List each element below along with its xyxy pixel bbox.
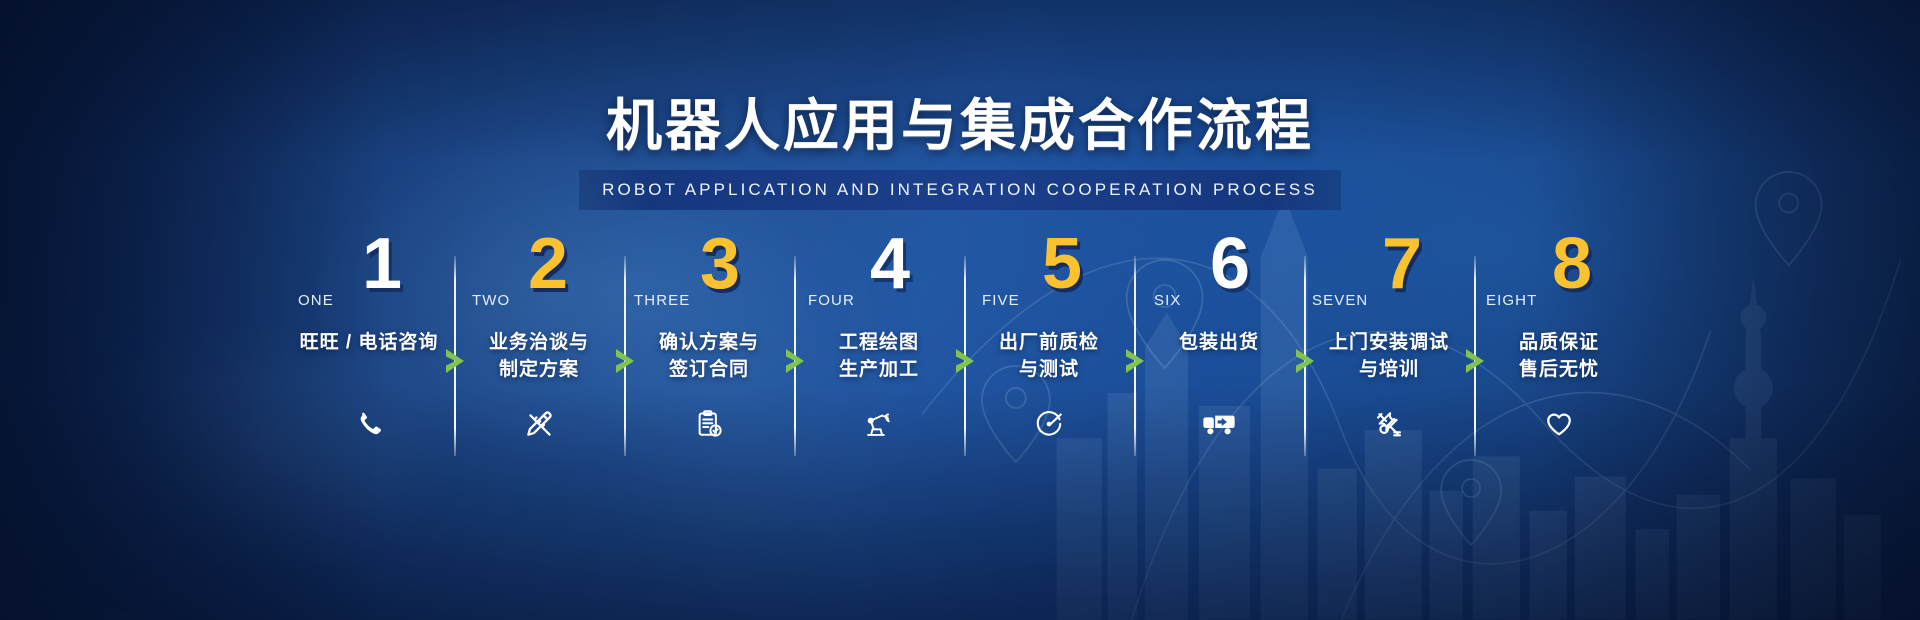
step-number: 7 bbox=[1382, 228, 1421, 300]
process-step-8[interactable]: 8EIGHT品质保证售后无忧 bbox=[1474, 252, 1644, 464]
step-ordinal: TWO bbox=[472, 292, 510, 309]
gauge-icon bbox=[964, 404, 1134, 444]
step-label: 品质保证售后无忧 bbox=[1474, 330, 1644, 384]
ruler-pen-icon bbox=[454, 404, 624, 444]
step-number: 5 bbox=[1042, 228, 1081, 300]
step-label-line: 品质保证 bbox=[1474, 330, 1644, 357]
step-label: 业务治谈与制定方案 bbox=[454, 330, 624, 384]
step-ordinal: FIVE bbox=[982, 292, 1020, 309]
step-label-line: 工程绘图 bbox=[794, 330, 964, 357]
step-number: 3 bbox=[700, 228, 739, 300]
phone-icon bbox=[284, 404, 454, 444]
step-label: 上门安装调试与培训 bbox=[1304, 330, 1474, 384]
process-step-list: 1ONE旺旺 / 电话咨询2TWO业务治谈与制定方案3THREE确认方案与签订合… bbox=[284, 252, 1644, 464]
step-ordinal: EIGHT bbox=[1486, 292, 1537, 309]
process-step-1[interactable]: 1ONE旺旺 / 电话咨询 bbox=[284, 252, 454, 464]
process-banner: 机器人应用与集成合作流程 ROBOT APPLICATION AND INTEG… bbox=[0, 0, 1920, 620]
step-ordinal: SIX bbox=[1154, 292, 1181, 309]
wrench-screwdriver-icon bbox=[1304, 404, 1474, 444]
step-ordinal: ONE bbox=[298, 292, 334, 309]
step-label: 确认方案与签订合同 bbox=[624, 330, 794, 384]
step-ordinal: FOUR bbox=[808, 292, 855, 309]
step-label-line: 售后无忧 bbox=[1474, 357, 1644, 384]
banner-header: 机器人应用与集成合作流程 ROBOT APPLICATION AND INTEG… bbox=[0, 96, 1920, 210]
step-label: 出厂前质检与测试 bbox=[964, 330, 1134, 384]
process-step-4[interactable]: 4FOUR工程绘图生产加工 bbox=[794, 252, 964, 464]
robot-arm-icon bbox=[794, 404, 964, 444]
process-step-3[interactable]: 3THREE确认方案与签订合同 bbox=[624, 252, 794, 464]
step-label-line: 签订合同 bbox=[624, 357, 794, 384]
step-label-line: 上门安装调试 bbox=[1304, 330, 1474, 357]
step-label-line: 出厂前质检 bbox=[964, 330, 1134, 357]
step-ordinal: SEVEN bbox=[1312, 292, 1368, 309]
step-number: 2 bbox=[528, 228, 567, 300]
clipboard-check-icon bbox=[624, 404, 794, 444]
step-label-line: 确认方案与 bbox=[624, 330, 794, 357]
step-label: 旺旺 / 电话咨询 bbox=[284, 330, 454, 357]
process-step-2[interactable]: 2TWO业务治谈与制定方案 bbox=[454, 252, 624, 464]
step-label-line: 与测试 bbox=[964, 357, 1134, 384]
step-label-line: 生产加工 bbox=[794, 357, 964, 384]
step-label-line: 包装出货 bbox=[1134, 330, 1304, 357]
step-label-line: 制定方案 bbox=[454, 357, 624, 384]
subtitle-bar: ROBOT APPLICATION AND INTEGRATION COOPER… bbox=[579, 170, 1341, 210]
step-number: 8 bbox=[1552, 228, 1591, 300]
step-ordinal: THREE bbox=[634, 292, 690, 309]
step-number: 4 bbox=[870, 228, 909, 300]
heart-icon bbox=[1474, 404, 1644, 444]
step-label: 包装出货 bbox=[1134, 330, 1304, 357]
step-label: 工程绘图生产加工 bbox=[794, 330, 964, 384]
page-title: 机器人应用与集成合作流程 bbox=[0, 96, 1920, 156]
process-step-5[interactable]: 5FIVE出厂前质检与测试 bbox=[964, 252, 1134, 464]
step-label-line: 与培训 bbox=[1304, 357, 1474, 384]
step-label-line: 旺旺 / 电话咨询 bbox=[284, 330, 454, 357]
delivery-truck-icon bbox=[1134, 404, 1304, 444]
process-step-7[interactable]: 7SEVEN上门安装调试与培训 bbox=[1304, 252, 1474, 464]
page-subtitle: ROBOT APPLICATION AND INTEGRATION COOPER… bbox=[602, 180, 1318, 200]
step-number: 1 bbox=[362, 228, 401, 300]
process-step-6[interactable]: 6SIX包装出货 bbox=[1134, 252, 1304, 464]
step-label-line: 业务治谈与 bbox=[454, 330, 624, 357]
step-number: 6 bbox=[1210, 228, 1249, 300]
